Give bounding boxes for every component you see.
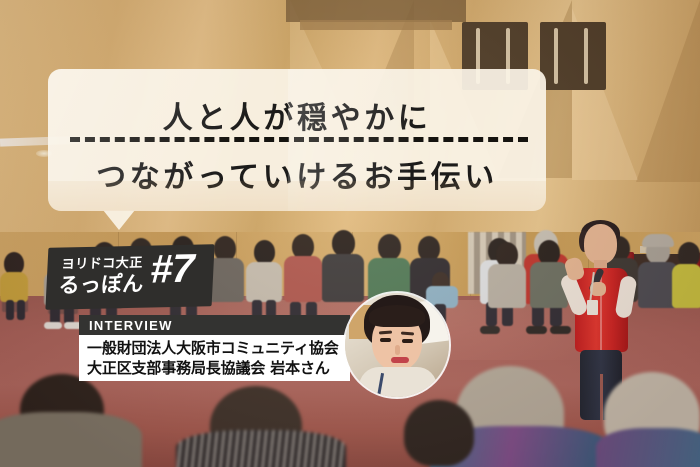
interview-org-line-2: 大正区支部事務局長協議会 岩本さん <box>87 357 330 378</box>
name-badge <box>587 300 598 315</box>
speech-bubble-tail <box>103 210 135 230</box>
title-speech-bubble: 人と人が穏やかに つながっていけるお手伝い <box>48 69 546 211</box>
wall-facet-icon <box>636 0 700 182</box>
interview-label-bar: INTERVIEW <box>79 315 350 335</box>
title-line-1: 人と人が穏やかに <box>48 93 546 137</box>
interview-credit-box: 一般財団法人大阪市コミュニティ協会 大正区支部事務局長協議会 岩本さん <box>79 335 350 381</box>
badge-title: るっぽん <box>58 268 144 300</box>
interview-org-line-1: 一般財団法人大阪市コミュニティ協会 <box>87 337 339 358</box>
ceiling-soffit <box>286 0 466 22</box>
interviewee-portrait <box>345 293 449 397</box>
ceiling-soffit-secondary <box>300 20 452 30</box>
title-line-2: つながっていけるお手伝い <box>48 152 546 196</box>
issue-badge-content: ヨリドコ大正 るっぽん #7 <box>45 244 214 309</box>
interview-label: INTERVIEW <box>89 318 173 333</box>
wall-vent-panel <box>540 22 606 90</box>
badge-issue-number: #7 <box>149 247 194 293</box>
title-divider-dashed <box>70 137 528 142</box>
poster-canvas: 人と人が穏やかに つながっていけるお手伝い ヨリドコ大正 るっぽん #7 INT… <box>0 0 700 467</box>
